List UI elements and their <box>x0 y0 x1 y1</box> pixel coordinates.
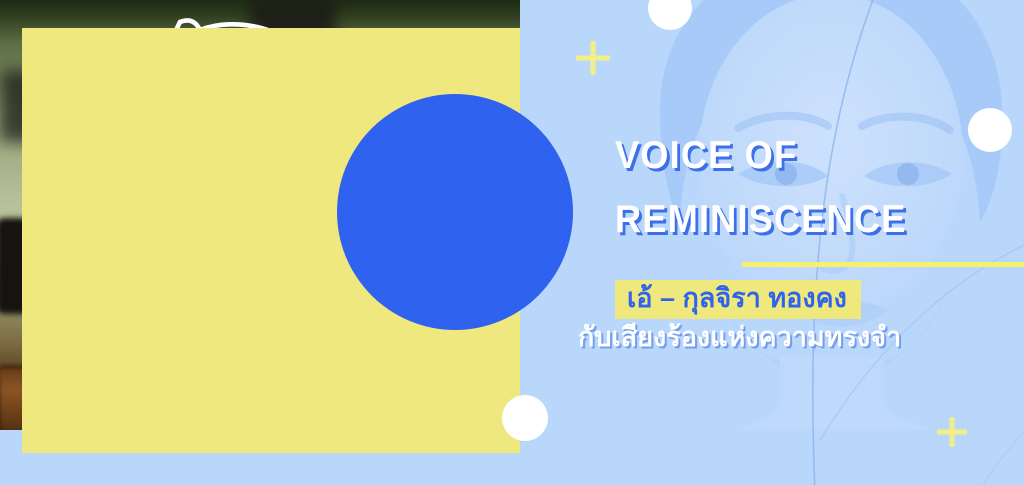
title-line-2: REMINISCENCE <box>615 200 906 239</box>
subtitle-text: กับเสียงร้องแห่งความทรงจำ <box>578 322 901 353</box>
text-block: VOICE OF REMINISCENCE เอ้ – กุลจิรา ทองค… <box>0 0 1024 485</box>
title-line-1: VOICE OF <box>615 136 797 175</box>
banner-root: VOICE OF REMINISCENCE เอ้ – กุลจิรา ทองค… <box>0 0 1024 485</box>
guest-name-highlight: เอ้ – กุลจิรา ทองคง <box>615 280 861 319</box>
